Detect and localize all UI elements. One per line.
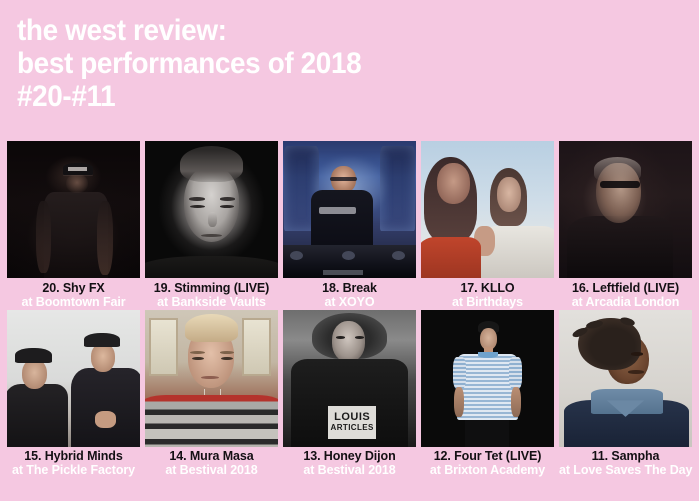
thumbnail-shy-fx[interactable]	[7, 141, 140, 278]
title-line-1: the west review:	[17, 14, 651, 47]
grid-item-13-honey-dijon[interactable]: LOUIS ARTICLES 13. Honey Dijon at Bestiv…	[283, 310, 416, 477]
thumbnail-mura-masa[interactable]	[145, 310, 278, 447]
photo-hybrid-minds	[7, 310, 140, 447]
entry-venue: at XOYO	[283, 295, 416, 309]
shirt-logo-line-2: ARTICLES	[331, 423, 374, 433]
entry-venue: at Bankside Vaults	[145, 295, 278, 309]
shirt-logo: LOUIS ARTICLES	[328, 406, 376, 439]
thumbnail-break[interactable]	[283, 141, 416, 278]
thumbnail-leftfield[interactable]	[559, 141, 692, 278]
entry-venue: at Bestival 2018	[283, 463, 416, 477]
caption-honey-dijon: 13. Honey Dijon at Bestival 2018	[283, 447, 416, 477]
entry-venue: at Boomtown Fair	[7, 295, 140, 309]
thumbnail-hybrid-minds[interactable]	[7, 310, 140, 447]
photo-shy-fx	[7, 141, 140, 278]
entry-title: 16. Leftfield (LIVE)	[559, 281, 692, 295]
grid-item-15-hybrid-minds[interactable]: 15. Hybrid Minds at The Pickle Factory	[7, 310, 140, 477]
thumbnail-kllo[interactable]	[421, 141, 554, 278]
grid-item-12-four-tet[interactable]: 12. Four Tet (LIVE) at Brixton Academy	[421, 310, 554, 477]
thumbnail-sampha[interactable]	[559, 310, 692, 447]
title-line-3: #20-#11	[17, 80, 651, 113]
title-line-2: best performances of 2018	[17, 47, 651, 80]
entry-venue: at Love Saves The Day	[559, 463, 692, 477]
photo-four-tet	[421, 310, 554, 447]
caption-mura-masa: 14. Mura Masa at Bestival 2018	[145, 447, 278, 477]
entry-title: 14. Mura Masa	[145, 449, 278, 463]
caption-leftfield: 16. Leftfield (LIVE) at Arcadia London	[559, 278, 692, 309]
grid-item-14-mura-masa[interactable]: 14. Mura Masa at Bestival 2018	[145, 310, 278, 477]
entry-title: 17. KLLO	[421, 281, 554, 295]
entry-venue: at The Pickle Factory	[7, 463, 140, 477]
thumbnail-honey-dijon[interactable]: LOUIS ARTICLES	[283, 310, 416, 447]
entry-title: 13. Honey Dijon	[283, 449, 416, 463]
photo-sampha	[559, 310, 692, 447]
photo-break	[283, 141, 416, 278]
photo-honey-dijon: LOUIS ARTICLES	[283, 310, 416, 447]
poster-header: the west review: best performances of 20…	[0, 0, 699, 113]
entry-title: 15. Hybrid Minds	[7, 449, 140, 463]
thumbnail-stimming[interactable]	[145, 141, 278, 278]
caption-kllo: 17. KLLO at Birthdays	[421, 278, 554, 309]
entry-venue: at Bestival 2018	[145, 463, 278, 477]
thumbnail-four-tet[interactable]	[421, 310, 554, 447]
grid-item-19-stimming[interactable]: 19. Stimming (LIVE) at Bankside Vaults	[145, 141, 278, 309]
entry-title: 11. Sampha	[559, 449, 692, 463]
shirt-logo-line-1: LOUIS	[334, 412, 370, 423]
caption-hybrid-minds: 15. Hybrid Minds at The Pickle Factory	[7, 447, 140, 477]
entry-title: 19. Stimming (LIVE)	[145, 281, 278, 295]
caption-break: 18. Break at XOYO	[283, 278, 416, 309]
caption-stimming: 19. Stimming (LIVE) at Bankside Vaults	[145, 278, 278, 309]
entry-title: 18. Break	[283, 281, 416, 295]
entry-venue: at Brixton Academy	[421, 463, 554, 477]
photo-stimming	[145, 141, 278, 278]
entry-title: 20. Shy FX	[7, 281, 140, 295]
entry-venue: at Birthdays	[421, 295, 554, 309]
performance-grid: 20. Shy FX at Boomtown Fair 19. Stimming…	[7, 141, 692, 477]
caption-four-tet: 12. Four Tet (LIVE) at Brixton Academy	[421, 447, 554, 477]
grid-item-11-sampha[interactable]: 11. Sampha at Love Saves The Day	[559, 310, 692, 477]
caption-sampha: 11. Sampha at Love Saves The Day	[559, 447, 692, 477]
photo-leftfield	[559, 141, 692, 278]
grid-item-20-shy-fx[interactable]: 20. Shy FX at Boomtown Fair	[7, 141, 140, 309]
photo-kllo	[421, 141, 554, 278]
grid-item-16-leftfield[interactable]: 16. Leftfield (LIVE) at Arcadia London	[559, 141, 692, 309]
entry-venue: at Arcadia London	[559, 295, 692, 309]
grid-item-17-kllo[interactable]: 17. KLLO at Birthdays	[421, 141, 554, 309]
photo-mura-masa	[145, 310, 278, 447]
grid-item-18-break[interactable]: 18. Break at XOYO	[283, 141, 416, 309]
poster-page: the west review: best performances of 20…	[0, 0, 699, 501]
caption-shy-fx: 20. Shy FX at Boomtown Fair	[7, 278, 140, 309]
entry-title: 12. Four Tet (LIVE)	[421, 449, 554, 463]
